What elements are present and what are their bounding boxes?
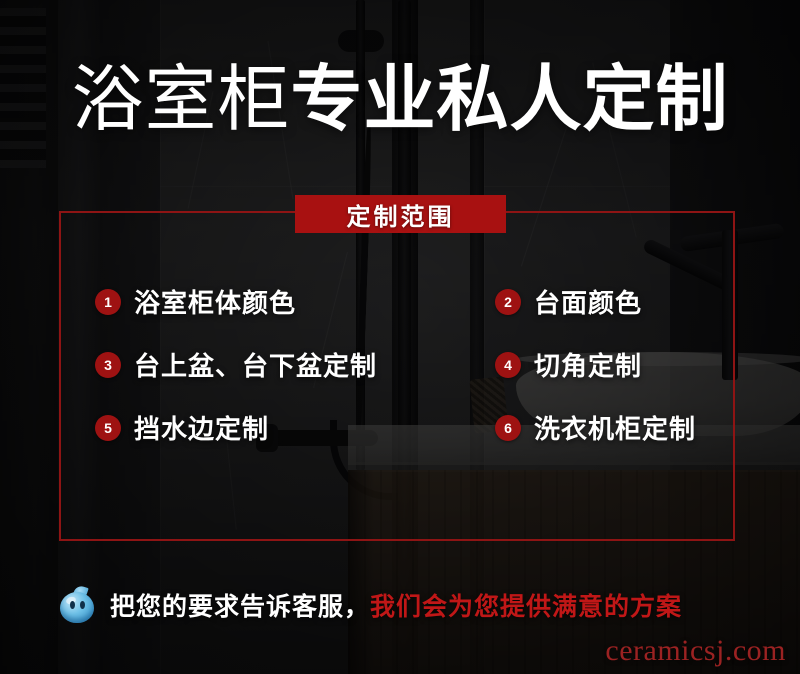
scope-item-2: 2 台面颜色 <box>495 283 735 320</box>
cta-text-red: 我们会为您提供满意的方案 <box>370 587 682 623</box>
scope-item-list: 1 浴室柜体颜色 2 台面颜色 3 台上盆、台下盆定制 4 切角定制 <box>95 283 735 472</box>
scope-item-badge: 4 <box>495 352 521 378</box>
scope-item-4: 4 切角定制 <box>495 346 735 383</box>
scope-row: 5 挡水边定制 6 洗衣机柜定制 <box>95 409 735 446</box>
scope-banner: 定制范围 <box>295 195 506 233</box>
page-title: 浴室柜专业私人定制 <box>0 64 800 136</box>
contact-cta[interactable]: 把您的要求告诉客服， 我们会为您提供满意的方案 <box>58 586 682 624</box>
title-bold-part: 专业私人定制 <box>291 60 729 140</box>
scope-item-badge: 3 <box>95 352 121 378</box>
scope-item-label: 切角定制 <box>534 346 642 383</box>
scope-item-5: 5 挡水边定制 <box>95 409 495 446</box>
scope-item-label: 台上盆、台下盆定制 <box>134 346 377 383</box>
scope-item-1: 1 浴室柜体颜色 <box>95 283 495 320</box>
promo-banner-page: 浴室柜专业私人定制 定制范围 1 浴室柜体颜色 2 台面颜色 3 台上盆、台 <box>0 0 800 674</box>
site-watermark: ceramicsj.com <box>605 634 786 668</box>
content-layer: 浴室柜专业私人定制 定制范围 1 浴室柜体颜色 2 台面颜色 3 台上盆、台 <box>0 0 800 674</box>
title-light-part: 浴室柜 <box>71 60 290 140</box>
scope-row: 3 台上盆、台下盆定制 4 切角定制 <box>95 346 735 383</box>
scope-item-3: 3 台上盆、台下盆定制 <box>95 346 495 383</box>
cta-text-white: 把您的要求告诉客服， <box>110 587 370 623</box>
scope-item-6: 6 洗衣机柜定制 <box>495 409 735 446</box>
scope-item-badge: 1 <box>95 289 121 315</box>
scope-item-label: 洗衣机柜定制 <box>534 409 696 446</box>
mascot-body <box>60 592 94 623</box>
scope-row: 1 浴室柜体颜色 2 台面颜色 <box>95 283 735 320</box>
mascot-eye-right <box>80 601 85 609</box>
scope-item-label: 浴室柜体颜色 <box>134 283 296 320</box>
scope-item-label: 台面颜色 <box>534 283 642 320</box>
scope-item-badge: 6 <box>495 415 521 441</box>
scope-banner-label: 定制范围 <box>347 197 455 232</box>
mascot-eye-left <box>70 601 75 609</box>
scope-item-badge: 2 <box>495 289 521 315</box>
chat-mascot-icon[interactable] <box>58 586 96 624</box>
scope-item-label: 挡水边定制 <box>134 409 269 446</box>
scope-item-badge: 5 <box>95 415 121 441</box>
